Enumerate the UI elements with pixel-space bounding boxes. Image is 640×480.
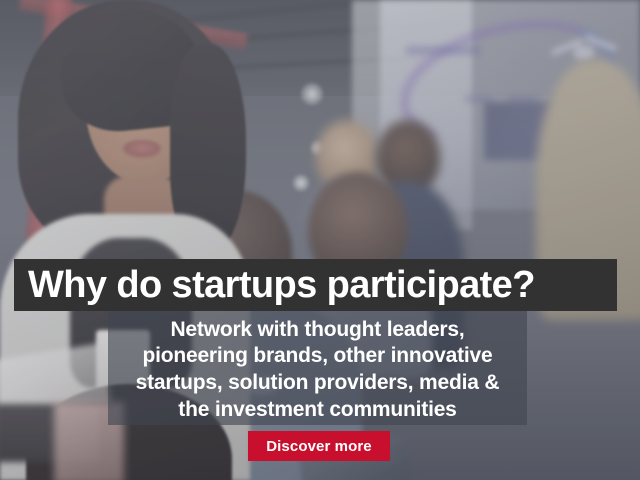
page-title: Why do startups participate? bbox=[28, 266, 535, 304]
subtitle-panel: Network with thought leaders, pioneering… bbox=[108, 311, 527, 425]
subtitle-line-2: pioneering brands, other innovative bbox=[142, 344, 492, 367]
subtitle-line-4: the investment communities bbox=[178, 398, 456, 421]
discover-more-button[interactable]: Discover more bbox=[248, 431, 390, 461]
headline-bar: Why do startups participate? bbox=[14, 259, 617, 311]
subtitle-text: Network with thought leaders, pioneering… bbox=[136, 317, 500, 424]
promo-banner: Why do startups participate? Network wit… bbox=[0, 0, 640, 480]
subtitle-line-3: startups, solution providers, media & bbox=[136, 371, 500, 394]
subtitle-line-1: Network with thought leaders, bbox=[170, 318, 464, 341]
